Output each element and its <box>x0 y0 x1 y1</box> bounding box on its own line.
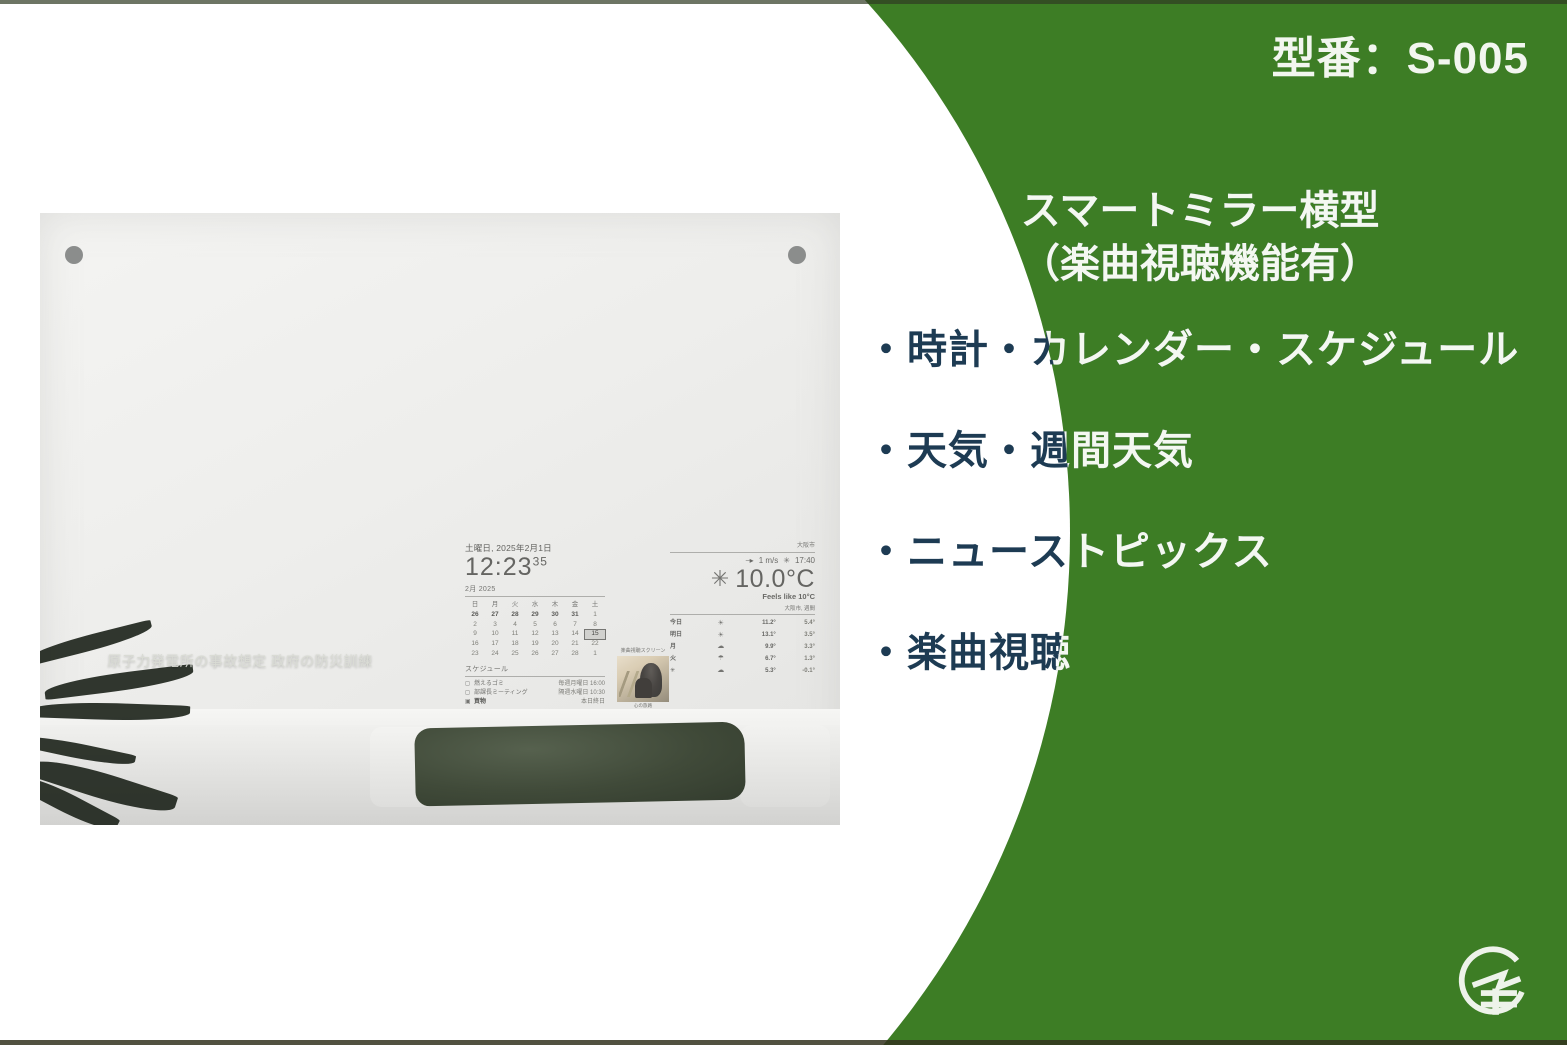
forecast-row: 火 ☂ 6.7° 1.3° <box>670 654 815 666</box>
product-photo: 土曜日, 2025年2月1日 12:2335 2月 2025 日 月 火 水 木… <box>40 213 840 825</box>
weather-current: ✳ 10.0°C <box>670 566 815 592</box>
clock-hhmm: 12:23 <box>465 553 533 581</box>
calendar-weekday: 金 <box>565 600 585 610</box>
calendar-day-today: 15 <box>585 630 605 640</box>
sun-icon: ☀ <box>705 618 737 630</box>
calendar-day: 26 <box>465 610 485 620</box>
calendar-weekday: 水 <box>525 600 545 610</box>
calendar-day: 9 <box>465 630 485 640</box>
clock-time: 12:2335 <box>465 554 605 580</box>
weekly-forecast-header: 大阪市, 週間 <box>670 606 815 615</box>
calendar-day: 1 <box>585 610 605 620</box>
feels-like-text: Feels like 10°C <box>670 592 815 601</box>
calendar-day: 30 <box>545 610 565 620</box>
calendar-header-row: 日 月 火 水 木 金 土 <box>465 600 605 610</box>
temperature-unit: °C <box>786 565 815 593</box>
cloud-icon: ☁ <box>705 642 737 654</box>
calendar-day: 12 <box>525 630 545 640</box>
calendar-day: 7 <box>565 620 585 630</box>
forecast-day: ✳ <box>670 666 705 678</box>
forecast-low: 3.3° <box>776 642 815 654</box>
calendar-body: 26 27 28 29 30 31 1 2 3 4 5 <box>465 610 605 660</box>
album-art-silhouette <box>640 663 662 697</box>
mirror-left-column: 土曜日, 2025年2月1日 12:2335 2月 2025 日 月 火 水 木… <box>465 543 605 707</box>
feature-list: ・時計・カレンダー・スケジュール ・天気・週間天気 ・ニューストピックス ・楽曲… <box>866 330 1566 734</box>
forecast-low: 3.5° <box>776 630 815 642</box>
mirror-right-column: 大阪市 ⎯▸ 1 m/s ✳ 17:40 ✳ 10.0°C Feels like… <box>670 543 815 678</box>
mirror-mount-screw <box>65 246 83 264</box>
schedule-item-time: 毎週月曜日 16:00 <box>558 681 605 689</box>
cushion-right <box>740 725 830 807</box>
calendar-weekday: 木 <box>545 600 565 610</box>
calendar-day: 17 <box>485 639 505 649</box>
forecast-high: 5.3° <box>737 666 776 678</box>
calendar-day: 13 <box>545 630 565 640</box>
calendar-day: 6 <box>545 620 565 630</box>
feature-item-news: ・ニューストピックス <box>866 532 1566 572</box>
feature-item-clock: ・時計・カレンダー・スケジュール <box>866 330 1566 370</box>
calendar-day: 27 <box>545 649 565 659</box>
product-title-line2: （楽曲視聴機能有） <box>870 238 1530 291</box>
forecast-high: 6.7° <box>737 654 776 666</box>
calendar-day: 2 <box>465 620 485 630</box>
calendar-day: 16 <box>465 639 485 649</box>
schedule-title: スケジュール <box>465 666 605 677</box>
schedule-item-name: 燃えるゴミ <box>474 681 558 689</box>
calendar-grid: 日 月 火 水 木 金 土 26 27 28 29 <box>465 600 605 660</box>
forecast-day: 今日 <box>670 618 705 630</box>
bottom-divider <box>0 1040 1567 1045</box>
calendar-day: 14 <box>565 630 585 640</box>
forecast-low: 1.3° <box>776 654 815 666</box>
news-ticker: 原子力発電所の事故想定 政府の防災訓練 <box>80 651 400 671</box>
forecast-high: 9.9° <box>737 642 776 654</box>
sun-icon: ☀ <box>705 630 737 642</box>
calendar-day: 4 <box>505 620 525 630</box>
feature-item-music: ・楽曲視聴 <box>866 633 1566 673</box>
cushion-center <box>414 722 746 807</box>
schedule-item: ▣ 買物 本日終日 <box>465 698 605 707</box>
company-logo <box>1453 941 1535 1023</box>
forecast-row: 明日 ☀ 13.1° 3.5° <box>670 630 815 642</box>
rain-icon: ☂ <box>705 654 737 666</box>
product-title-line1: スマートミラー横型 <box>870 185 1530 238</box>
calendar-day: 3 <box>485 620 505 630</box>
checkbox-icon: ◻ <box>465 681 474 689</box>
schedule-item: ◻ 部課長ミーティング 隔週水曜日 10:30 <box>465 689 605 698</box>
forecast-low: -0.1° <box>776 666 815 678</box>
calendar-weekday: 日 <box>465 600 485 610</box>
schedule-item-time: 隔週水曜日 10:30 <box>558 690 605 698</box>
product-title: スマートミラー横型 （楽曲視聴機能有） <box>870 185 1530 291</box>
album-art <box>617 656 669 702</box>
calendar-day: 22 <box>585 639 605 649</box>
schedule-item-time: 本日終日 <box>581 699 605 707</box>
calendar-day: 8 <box>585 620 605 630</box>
calendar-weekday: 土 <box>585 600 605 610</box>
schedule-item: ◻ 燃えるゴミ 毎週月曜日 16:00 <box>465 680 605 689</box>
calendar-day: 23 <box>465 649 485 659</box>
calendar-day: 24 <box>485 649 505 659</box>
calendar-weekday: 月 <box>485 600 505 610</box>
feature-item-weather: ・天気・週間天気 <box>866 431 1566 471</box>
mirror-mount-screw <box>788 246 806 264</box>
forecast-day: 明日 <box>670 630 705 642</box>
music-player-card: 楽曲視聴スクリーン 心の旅路 思い出のミュージシャン <box>617 648 669 714</box>
forecast-high: 13.1° <box>737 630 776 642</box>
forecast-high: 11.2° <box>737 618 776 630</box>
sun-icon: ✳ <box>711 568 729 590</box>
calendar-day: 28 <box>565 649 585 659</box>
calendar-day: 18 <box>505 639 525 649</box>
calendar-week-row: 16 17 18 19 20 21 22 <box>465 639 605 649</box>
temperature-value: 10.0 <box>735 565 786 593</box>
schedule-item-name: 買物 <box>474 699 581 707</box>
calendar-week-row: 9 10 11 12 13 14 15 <box>465 630 605 640</box>
top-divider <box>0 0 1567 4</box>
calendar-day: 26 <box>525 649 545 659</box>
forecast-low: 5.4° <box>776 618 815 630</box>
forecast-day: 月 <box>670 642 705 654</box>
calendar-day: 28 <box>505 610 525 620</box>
forecast-row: 月 ☁ 9.9° 3.3° <box>670 642 815 654</box>
checkbox-filled-icon: ▣ <box>465 699 474 707</box>
forecast-day: 火 <box>670 654 705 666</box>
calendar-day: 11 <box>505 630 525 640</box>
calendar-day: 21 <box>565 639 585 649</box>
calendar-week-row: 26 27 28 29 30 31 1 <box>465 610 605 620</box>
calendar-day: 27 <box>485 610 505 620</box>
calendar-weekday: 火 <box>505 600 525 610</box>
slide-canvas: 土曜日, 2025年2月1日 12:2335 2月 2025 日 月 火 水 木… <box>0 0 1567 1045</box>
plant-leaf <box>40 700 190 723</box>
checkbox-icon: ◻ <box>465 690 474 698</box>
calendar-day: 20 <box>545 639 565 649</box>
calendar-day: 25 <box>505 649 525 659</box>
calendar-day: 10 <box>485 630 505 640</box>
calendar-day: 31 <box>565 610 585 620</box>
calendar-week-row: 23 24 25 26 27 28 1 <box>465 649 605 659</box>
forecast-row: ✳ ☁ 5.3° -0.1° <box>670 666 815 678</box>
forecast-row: 今日 ☀ 11.2° 5.4° <box>670 618 815 630</box>
calendar-day: 5 <box>525 620 545 630</box>
calendar-day: 1 <box>585 649 605 659</box>
weather-location: 大阪市 <box>670 543 815 553</box>
cloud-icon: ☁ <box>705 666 737 678</box>
current-temperature: 10.0°C <box>735 566 815 592</box>
weekly-forecast-table: 今日 ☀ 11.2° 5.4° 明日 ☀ 13.1° 3.5° 月 <box>670 618 815 678</box>
calendar-title: 2月 2025 <box>465 586 605 597</box>
calendar-day: 19 <box>525 639 545 649</box>
calendar-week-row: 2 3 4 5 6 7 8 <box>465 620 605 630</box>
schedule-item-name: 部課長ミーティング <box>474 690 558 698</box>
music-section-label: 楽曲視聴スクリーン <box>617 648 669 654</box>
calendar-day: 29 <box>525 610 545 620</box>
clock-seconds: 35 <box>533 554 548 568</box>
model-number: 型番：S-005 <box>1272 22 1529 86</box>
